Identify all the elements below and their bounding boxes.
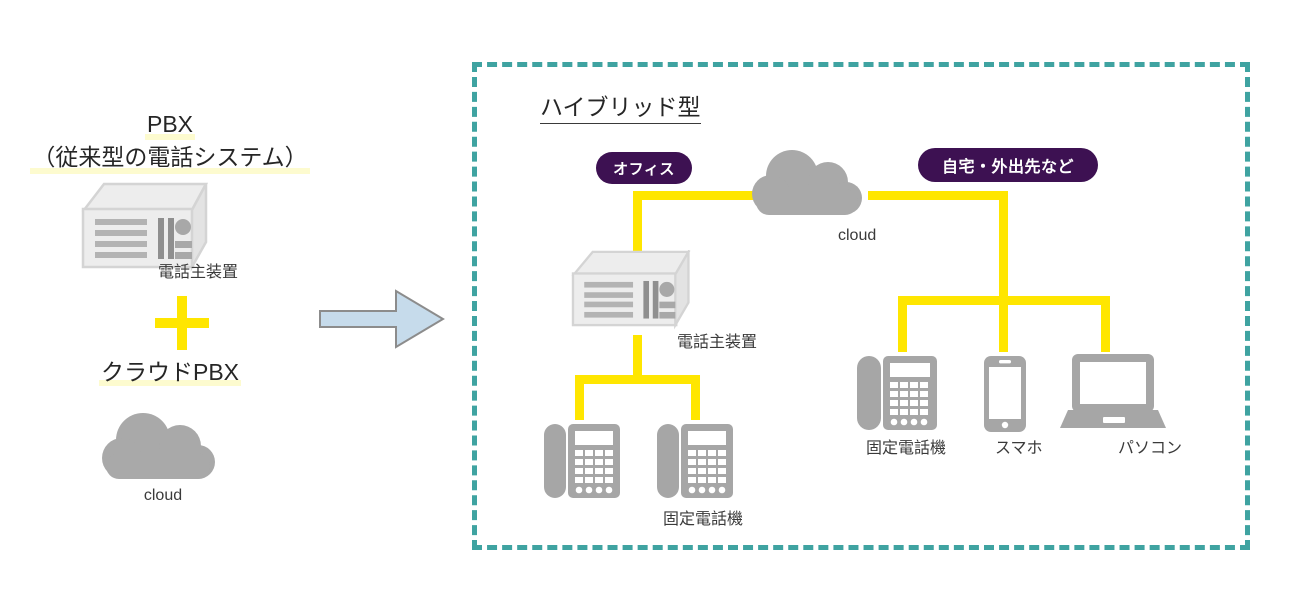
pbx-title-line2: （従来型の電話システム） xyxy=(32,144,307,170)
cloud-pbx-caption: cloud xyxy=(98,487,228,505)
desk-phone-icon xyxy=(655,418,735,502)
diagram-canvas: PBX （従来型の電話システム） 電話主装置 クラウド xyxy=(0,0,1300,603)
hybrid-server-caption: 電話主装置 xyxy=(677,328,757,352)
cloud-icon xyxy=(98,410,228,490)
remote-device-label-1: スマホ xyxy=(995,434,1043,458)
wire-remote-down xyxy=(999,191,1008,301)
wire-remote-smartphone-drop xyxy=(999,296,1008,352)
remote-device-label-2: パソコン xyxy=(1118,434,1182,458)
arrow-right-icon xyxy=(318,288,446,350)
desk-phone-icon xyxy=(542,418,622,502)
hybrid-title: ハイブリッド型 xyxy=(540,88,701,124)
wire-office-down xyxy=(633,191,642,254)
cloud-pbx-cloud-icon xyxy=(98,410,228,490)
transition-arrow xyxy=(318,288,446,350)
cloud-pbx-title: クラウドPBX xyxy=(0,358,340,387)
wire-office-phone1-drop xyxy=(575,375,584,420)
remote-laptop xyxy=(1060,352,1166,432)
wire-remote-phone-drop xyxy=(898,296,907,352)
badge-home-remote: 自宅・外出先など xyxy=(918,148,1098,182)
wire-office-phone2-drop xyxy=(691,375,700,420)
remote-desk-phone xyxy=(855,350,939,434)
laptop-icon xyxy=(1060,352,1166,432)
hybrid-cloud-icon xyxy=(748,148,876,226)
office-desk-phone-1 xyxy=(542,418,622,502)
pbx-server-caption: 電話主装置 xyxy=(158,258,238,282)
hybrid-cloud-caption: cloud xyxy=(838,227,876,245)
pbx-title: PBX （従来型の電話システム） xyxy=(0,108,340,175)
desk-phone-icon xyxy=(855,350,939,434)
cloud-icon xyxy=(748,148,876,226)
wire-office-split xyxy=(575,375,700,384)
wire-cloud-to-office xyxy=(633,191,761,200)
smartphone-icon xyxy=(983,355,1027,433)
wire-cloud-to-remote xyxy=(868,191,1008,200)
badge-office-label: オフィス xyxy=(613,158,675,179)
wire-remote-laptop-drop xyxy=(1101,296,1110,352)
pbx-title-line1: PBX xyxy=(147,111,193,137)
badge-home-remote-label: 自宅・外出先など xyxy=(942,153,1074,177)
remote-smartphone xyxy=(983,355,1027,433)
badge-office: オフィス xyxy=(596,152,692,184)
office-desk-phone-2 xyxy=(655,418,735,502)
plus-icon xyxy=(155,296,209,350)
office-phones-caption: 固定電話機 xyxy=(663,505,743,529)
remote-device-label-0: 固定電話機 xyxy=(866,434,946,458)
